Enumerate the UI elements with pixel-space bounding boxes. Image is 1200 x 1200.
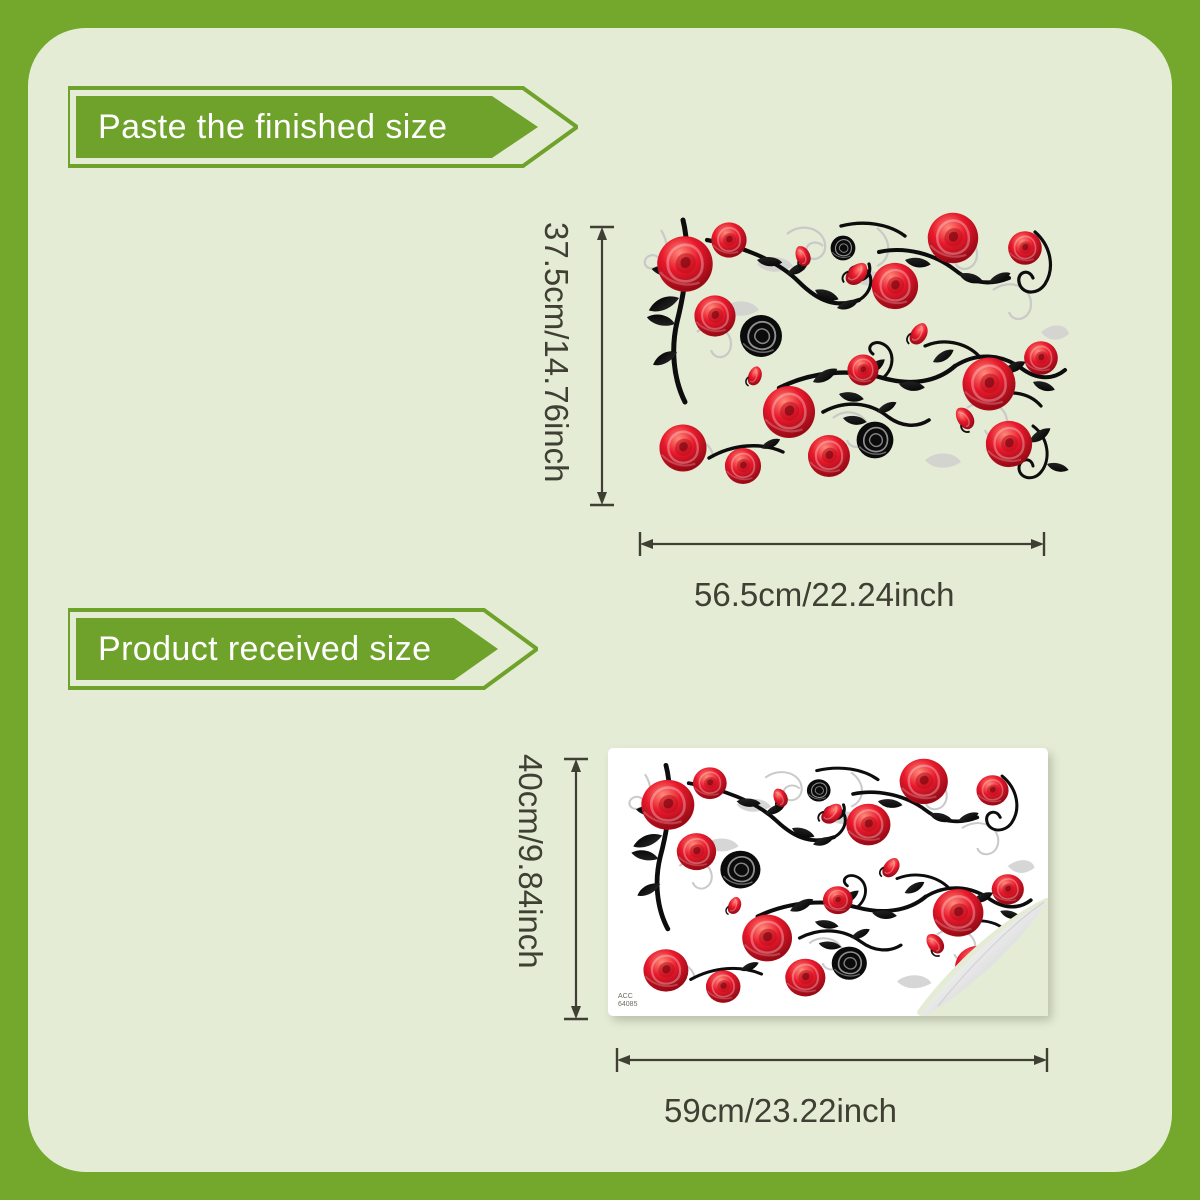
dimension-label-height-finished: 37.5cm/14.76inch (537, 222, 575, 483)
peeled-corner-icon (916, 898, 1048, 1016)
banner-label: Paste the finished size (98, 86, 447, 168)
dimension-line-horizontal-received (614, 1046, 1050, 1079)
dimension-arrow-icon (637, 530, 1047, 558)
product-sheet: ACC 64085 (608, 748, 1048, 1016)
infographic-page: Paste the finished size 37.5cm/14.76inch (0, 0, 1200, 1200)
dimension-arrow-icon (614, 1046, 1050, 1074)
sheet-code-line-2: 64085 (618, 1001, 637, 1009)
dimension-label-height-received: 40cm/9.84inch (511, 754, 549, 969)
dimension-line-vertical-received (562, 756, 590, 1027)
dimension-label-width-finished: 56.5cm/22.24inch (694, 576, 955, 614)
sheet-product-code: ACC 64085 (618, 993, 637, 1009)
dimension-arrow-icon (588, 224, 616, 508)
black-rose (831, 236, 856, 261)
dimension-arrow-icon (562, 756, 590, 1022)
rose-vine-decal-icon (637, 212, 1069, 512)
banner-label: Product received size (98, 608, 431, 690)
sheet-code-line-1: ACC (618, 993, 637, 1001)
dimension-line-vertical-finished (588, 224, 616, 513)
black-rose (740, 315, 782, 357)
dimension-line-horizontal-finished (637, 530, 1047, 563)
banner-paste-finished-size: Paste the finished size (68, 86, 578, 168)
dimension-label-width-received: 59cm/23.22inch (664, 1092, 897, 1130)
banner-product-received-size: Product received size (68, 608, 538, 690)
black-rose (857, 422, 894, 459)
artwork-finished-decal (637, 212, 1069, 512)
